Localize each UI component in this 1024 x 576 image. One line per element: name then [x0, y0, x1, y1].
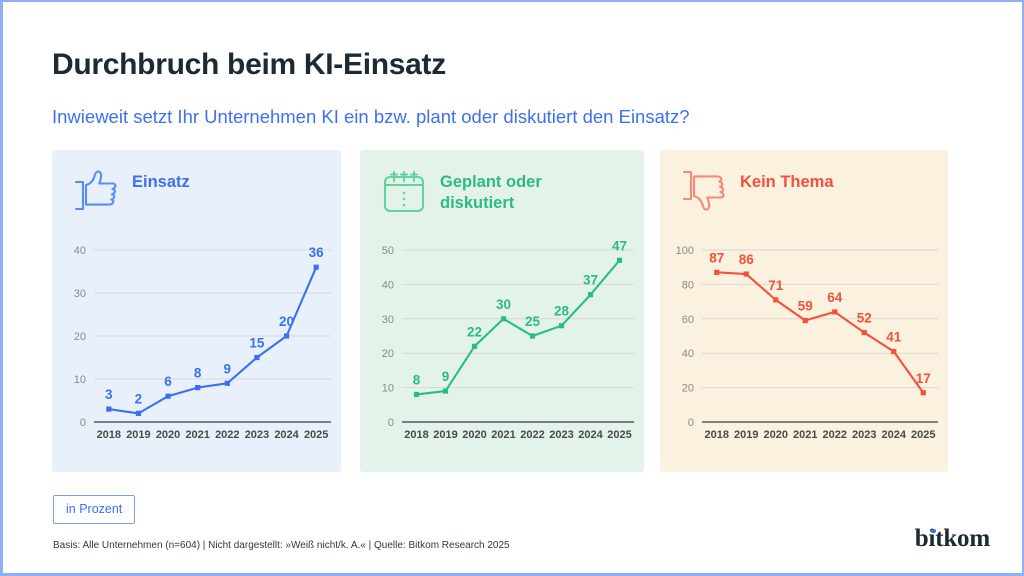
data-point: [501, 316, 506, 321]
y-tick-label: 0: [80, 417, 86, 429]
data-value-label: 25: [525, 314, 541, 329]
x-tick-label: 2018: [705, 429, 729, 441]
x-tick-label: 2025: [304, 429, 328, 441]
data-value-label: 36: [309, 245, 325, 260]
x-tick-label: 2019: [433, 429, 457, 441]
chart-panel-einsatz: Einsatz 01020304032018220196202082021920…: [52, 150, 341, 472]
x-tick-label: 2025: [607, 429, 631, 441]
data-value-label: 8: [194, 366, 202, 381]
x-tick-label: 2022: [520, 429, 544, 441]
data-value-label: 9: [442, 369, 450, 384]
x-tick-label: 2021: [793, 429, 817, 441]
chart-svg: 0102030405082018920192220203020212520222…: [360, 226, 644, 470]
page-subtitle: Inwieweit setzt Ihr Unternehmen KI ein b…: [52, 106, 690, 128]
x-tick-label: 2024: [578, 429, 603, 441]
x-tick-label: 2020: [764, 429, 788, 441]
data-value-label: 28: [554, 304, 570, 319]
x-tick-label: 2021: [491, 429, 515, 441]
data-value-label: 52: [857, 311, 872, 326]
thumbs-down-icon: [680, 168, 728, 219]
data-point: [803, 318, 808, 323]
data-value-label: 71: [768, 278, 784, 293]
data-point: [443, 388, 448, 393]
x-tick-label: 2024: [882, 429, 907, 441]
bitkom-logo: bitkom: [915, 526, 990, 551]
data-value-label: 9: [224, 361, 232, 376]
y-tick-label: 20: [382, 348, 394, 360]
data-point: [530, 333, 535, 338]
y-tick-label: 10: [382, 383, 394, 395]
data-value-label: 3: [105, 387, 113, 402]
data-value-label: 47: [612, 238, 627, 253]
data-value-label: 22: [467, 324, 482, 339]
x-tick-label: 2023: [245, 429, 269, 441]
panel-title: Einsatz: [132, 172, 190, 193]
data-point: [165, 394, 170, 399]
data-point: [744, 271, 749, 276]
chart-panel-kein-thema: Kein Thema 02040608010087201886201971202…: [660, 150, 948, 472]
data-point: [225, 381, 230, 386]
line-chart-kein-thema: 0204060801008720188620197120205920216420…: [660, 226, 948, 470]
legend-unit-badge: in Prozent: [53, 495, 135, 524]
data-point: [559, 323, 564, 328]
x-tick-label: 2023: [549, 429, 573, 441]
data-point: [136, 411, 141, 416]
calendar-icon: [380, 168, 428, 221]
data-point: [472, 344, 477, 349]
data-point: [891, 349, 896, 354]
chart-svg: 0102030403201822019620208202192022152023…: [52, 226, 341, 470]
data-point: [832, 309, 837, 314]
data-value-label: 15: [249, 336, 265, 351]
x-tick-label: 2020: [156, 429, 180, 441]
data-value-label: 64: [827, 290, 843, 305]
data-point: [106, 407, 111, 412]
y-tick-label: 0: [688, 417, 694, 429]
line-chart-geplant: 0102030405082018920192220203020212520222…: [360, 226, 644, 470]
panel-header: Kein Thema: [680, 166, 834, 219]
y-tick-label: 30: [74, 288, 86, 300]
logo-wordmark: bitkom: [915, 525, 990, 552]
y-tick-label: 60: [682, 314, 694, 326]
x-tick-label: 2018: [97, 429, 121, 441]
data-point: [254, 355, 259, 360]
y-tick-label: 20: [682, 383, 694, 395]
x-tick-label: 2022: [215, 429, 239, 441]
x-tick-label: 2024: [274, 429, 299, 441]
x-tick-label: 2022: [823, 429, 847, 441]
data-point: [921, 390, 926, 395]
y-tick-label: 0: [388, 417, 394, 429]
y-tick-label: 100: [676, 245, 694, 257]
data-point: [195, 385, 200, 390]
panel-title: Kein Thema: [740, 172, 834, 193]
data-point: [617, 258, 622, 263]
data-value-label: 59: [798, 299, 813, 314]
x-tick-label: 2023: [852, 429, 876, 441]
slide-canvas: Durchbruch beim KI-Einsatz Inwieweit set…: [0, 0, 1024, 576]
chart-svg: 0204060801008720188620197120205920216420…: [660, 226, 948, 470]
y-tick-label: 40: [682, 348, 694, 360]
data-point: [414, 392, 419, 397]
y-tick-label: 40: [74, 245, 86, 257]
data-value-label: 86: [739, 252, 755, 267]
y-tick-label: 40: [382, 279, 394, 291]
y-tick-label: 80: [682, 279, 694, 291]
line-chart-einsatz: 0102030403201822019620208202192022152023…: [52, 226, 341, 470]
data-value-label: 41: [886, 329, 902, 344]
data-value-label: 30: [496, 297, 511, 312]
source-note: Basis: Alle Unternehmen (n=604) | Nicht …: [53, 540, 510, 551]
data-point: [588, 292, 593, 297]
y-tick-label: 50: [382, 245, 394, 257]
panel-title: Geplant oder diskutiert: [440, 172, 542, 214]
panel-header: Geplant oder diskutiert: [380, 166, 542, 221]
y-tick-label: 10: [74, 374, 86, 386]
data-point: [862, 330, 867, 335]
data-point: [314, 265, 319, 270]
data-point: [773, 297, 778, 302]
data-value-label: 20: [279, 314, 294, 329]
panel-header: Einsatz: [72, 166, 190, 219]
thumbs-up-icon: [72, 168, 120, 219]
x-tick-label: 2020: [462, 429, 486, 441]
logo-dot-icon: [931, 529, 936, 534]
x-tick-label: 2025: [911, 429, 935, 441]
y-tick-label: 20: [74, 331, 86, 343]
x-tick-label: 2019: [126, 429, 150, 441]
data-value-label: 17: [916, 371, 931, 386]
data-value-label: 87: [709, 250, 724, 265]
x-tick-label: 2018: [404, 429, 428, 441]
chart-panel-geplant: Geplant oder diskutiert 0102030405082018…: [360, 150, 644, 472]
page-title: Durchbruch beim KI-Einsatz: [52, 48, 446, 82]
y-tick-label: 30: [382, 314, 394, 326]
data-value-label: 2: [135, 391, 143, 406]
data-value-label: 37: [583, 273, 598, 288]
data-point: [284, 333, 289, 338]
x-tick-label: 2019: [734, 429, 758, 441]
x-tick-label: 2021: [185, 429, 209, 441]
data-point: [714, 270, 719, 275]
data-value-label: 8: [413, 372, 421, 387]
data-value-label: 6: [164, 374, 172, 389]
